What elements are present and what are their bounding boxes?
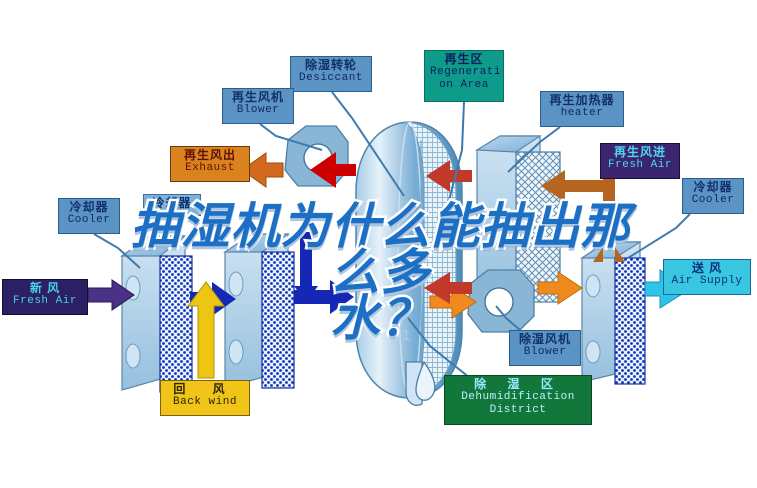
callout-leader-lines <box>0 0 757 488</box>
label-en-text: heater <box>546 107 618 119</box>
label-en-text-2: District <box>450 404 586 416</box>
label-cn-text: 再生风出 <box>176 149 244 162</box>
label-en-text-2: on Area <box>430 79 498 91</box>
label-regen-blower: 再生风机Blower <box>222 88 294 124</box>
label-dehumidification-district: 除 湿 区DehumidificationDistrict <box>444 375 592 425</box>
label-cn-text: 新 风 <box>8 282 82 295</box>
label-cooler-left-1: 冷却器Cooler <box>58 198 120 234</box>
label-cooler-left-2: 冷却器 <box>143 194 201 216</box>
label-en-text: Back wind <box>166 396 244 408</box>
label-en-text: Regenerati <box>430 66 498 78</box>
label-cn-text: 除湿风机 <box>515 333 575 346</box>
label-cooler-right: 冷却器Cooler <box>682 178 744 214</box>
label-regen-heater: 再生加热器heater <box>540 91 624 127</box>
label-regen-fresh-air-in: 再生风进Fresh Air <box>600 143 680 179</box>
label-en-text: Fresh Air <box>606 159 674 171</box>
label-cn-text: 冷却器 <box>688 181 738 194</box>
label-air-supply-out: 送 风Air Supply <box>663 259 751 295</box>
label-cn-text: 再生加热器 <box>546 94 618 107</box>
label-en-text: Fresh Air <box>8 295 82 307</box>
label-cn-text: 再生区 <box>430 53 498 66</box>
label-en-text: Cooler <box>688 194 738 206</box>
diagram-canvas: X1 <box>0 0 757 488</box>
label-fresh-air-in: 新 风Fresh Air <box>2 279 88 315</box>
label-cn-text: 回 风 <box>166 383 244 396</box>
label-cn-text: 送 风 <box>669 262 745 275</box>
label-en-text: Exhaust <box>176 162 244 174</box>
label-cn-text: 再生风机 <box>228 91 288 104</box>
label-cn-text: 再生风进 <box>606 146 674 159</box>
label-cn-text: 冷却器 <box>64 201 114 214</box>
label-en-text: Dehumidification <box>450 391 586 403</box>
label-cn-text: 除湿转轮 <box>296 59 366 72</box>
label-en-text: Air Supply <box>669 275 745 287</box>
label-dehum-blower: 除湿风机Blower <box>509 330 581 366</box>
label-en-text: Desiccant <box>296 72 366 84</box>
label-en-text: Blower <box>515 346 575 358</box>
label-cn-text: 冷却器 <box>149 197 195 210</box>
label-en-text: Blower <box>228 104 288 116</box>
label-en-text: Cooler <box>64 214 114 226</box>
label-regen-exhaust-out: 再生风出Exhaust <box>170 146 250 182</box>
label-cn-text: 除 湿 区 <box>450 378 586 391</box>
label-back-wind-in: 回 风Back wind <box>160 380 250 416</box>
label-regeneration-area: 再生区Regeneration Area <box>424 50 504 102</box>
label-desiccant-wheel: 除湿转轮Desiccant <box>290 56 372 92</box>
